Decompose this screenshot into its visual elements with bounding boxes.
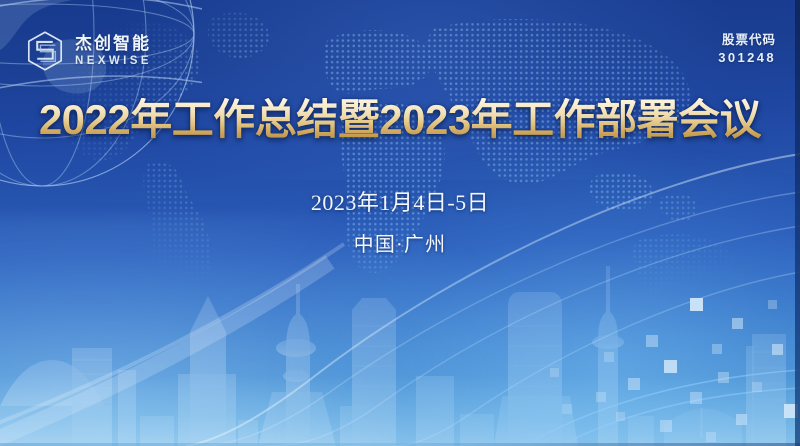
event-location: 中国·广州: [0, 228, 800, 257]
header: 杰创智能 NEXWISE 股票代码 301248: [0, 0, 800, 96]
conference-poster: 杰创智能 NEXWISE 股票代码 301248 2022年工作总结暨2023年…: [0, 0, 800, 446]
floating-square: [690, 298, 703, 311]
right-edge-strip: [795, 0, 800, 446]
floating-square: [732, 318, 743, 329]
floating-square: [616, 412, 625, 421]
floating-square: [562, 404, 572, 414]
floating-square: [646, 335, 658, 347]
floating-square: [772, 344, 783, 355]
floating-square: [596, 392, 606, 402]
stock-code-block: 股票代码 301248: [718, 33, 776, 66]
floating-square: [664, 360, 677, 373]
logo-name-en: NEXWISE: [75, 56, 152, 68]
logo-name-cn: 杰创智能: [75, 35, 152, 52]
stock-code-value: 301248: [718, 50, 776, 66]
floating-square: [628, 378, 640, 390]
brand-logo: 杰创智能 NEXWISE: [24, 29, 152, 73]
nexwise-hexagon-logo-icon: [24, 29, 66, 73]
floating-square: [718, 372, 729, 383]
floating-square: [706, 432, 716, 442]
event-date: 2023年1月4日-5日: [0, 185, 800, 217]
floating-square: [768, 300, 777, 309]
title-block: 2022年工作总结暨2023年工作部署会议: [0, 98, 800, 142]
floating-square: [736, 414, 747, 425]
floating-square: [752, 382, 762, 392]
page-title: 2022年工作总结暨2023年工作部署会议: [39, 98, 761, 142]
floating-square: [604, 352, 614, 362]
stock-code-label: 股票代码: [718, 33, 776, 48]
floating-square: [690, 392, 702, 404]
floating-square: [550, 368, 559, 377]
floating-square: [712, 344, 722, 354]
floating-square: [660, 420, 672, 432]
